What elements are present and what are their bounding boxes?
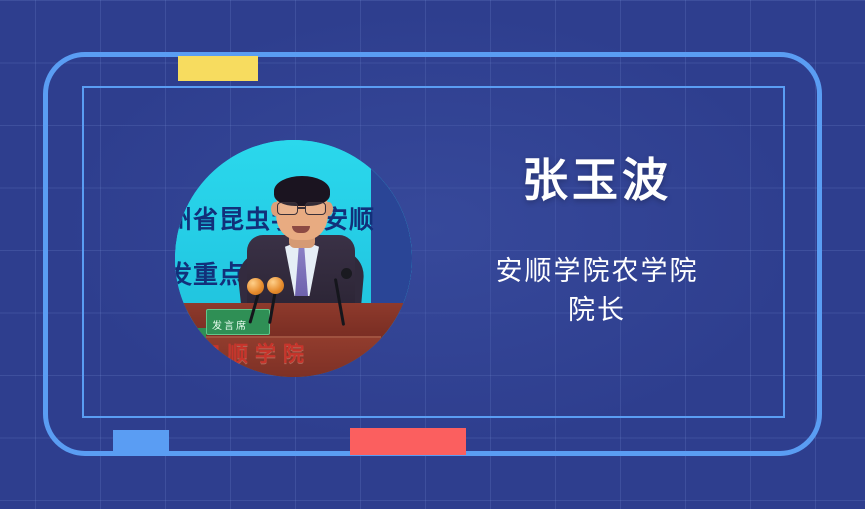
speaker-photo: 州省昆虫学会安顺 发重点实验负责 安顺学院 — [175, 140, 412, 377]
speaker-organization: 安顺学院农学院 — [438, 252, 756, 291]
podium-speaker-sign: 发言席 — [206, 309, 270, 335]
speaker-glasses — [274, 202, 331, 216]
speaker-role: 院长 — [438, 291, 756, 330]
podium-institution-text: 安顺学院 — [199, 338, 364, 368]
speaker-card-slide: 州省昆虫学会安顺 发重点实验负责 安顺学院 — [0, 0, 865, 509]
microphone-head-right — [341, 268, 352, 279]
microphone-head-center — [267, 277, 284, 294]
glasses-lens-right — [305, 202, 326, 215]
university-logo-icon — [178, 328, 206, 364]
accent-block-red — [350, 428, 466, 455]
speaker-name: 张玉波 — [438, 155, 756, 206]
accent-block-yellow — [178, 56, 258, 81]
speaker-info: 张玉波 安顺学院农学院 院长 — [438, 155, 756, 330]
glasses-lens-left — [277, 202, 298, 215]
microphone-head-left — [247, 278, 264, 295]
accent-block-blue — [113, 430, 169, 456]
podium-sign-text: 发言席 — [212, 317, 248, 332]
speaker-photo-canvas: 州省昆虫学会安顺 发重点实验负责 安顺学院 — [175, 140, 412, 377]
